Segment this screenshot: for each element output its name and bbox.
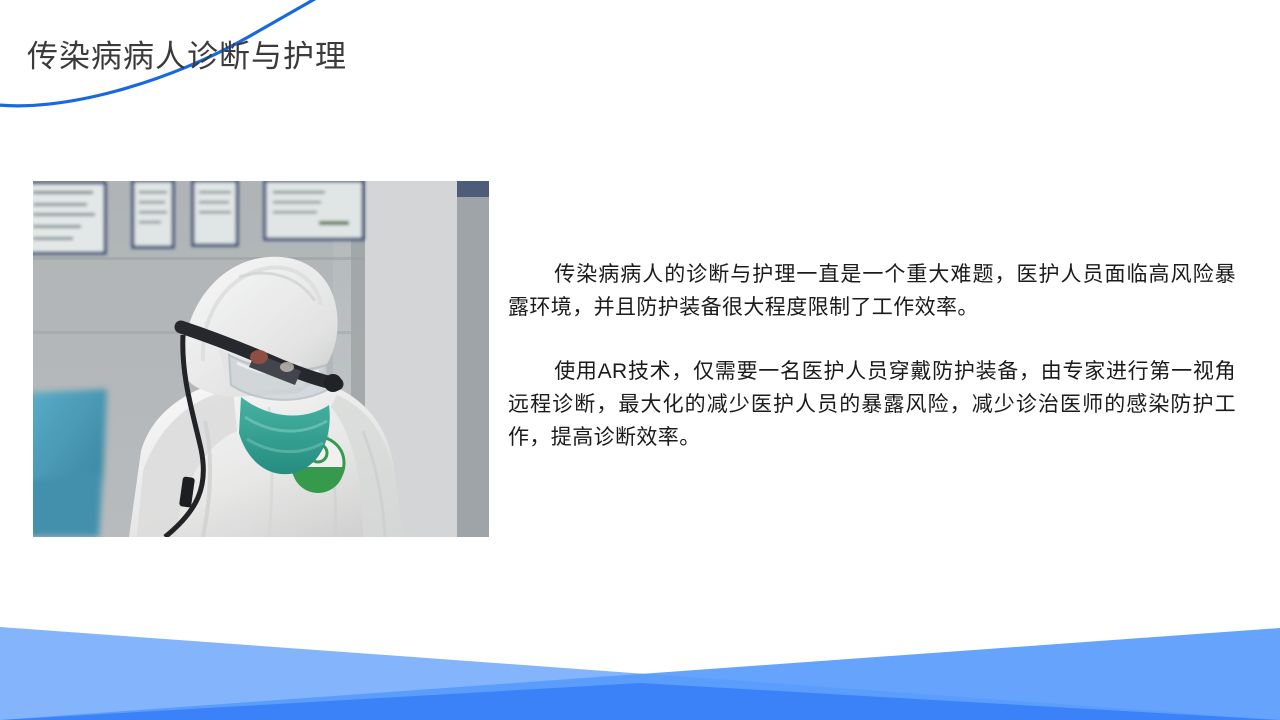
left-triangle [0, 627, 1280, 720]
photo-image [33, 181, 489, 537]
body-text: 传染病病人的诊断与护理一直是一个重大难题，医护人员面临高风险暴露环境，并且防护装… [508, 258, 1236, 454]
paragraph-1: 传染病病人的诊断与护理一直是一个重大难题，医护人员面临高风险暴露环境，并且防护装… [508, 258, 1236, 324]
slide-canvas: 传染病病人诊断与护理 [0, 0, 1280, 720]
page-title: 传染病病人诊断与护理 [27, 36, 347, 78]
right-triangle [0, 628, 1280, 720]
slide-photo [33, 181, 489, 537]
bottom-decoration [0, 600, 1280, 720]
paragraph-2: 使用AR技术，仅需要一名医护人员穿戴防护装备，由专家进行第一视角远程诊断，最大化… [508, 355, 1236, 454]
overlap-wedge [0, 683, 1280, 720]
